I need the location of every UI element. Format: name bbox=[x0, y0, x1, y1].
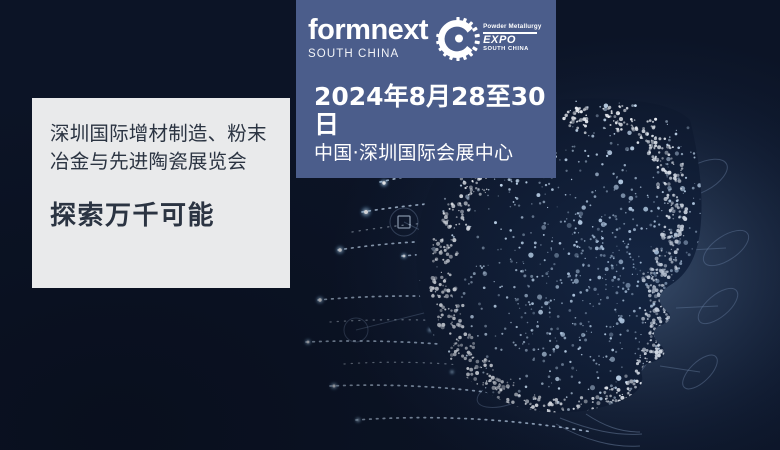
event-date: 2024年8月28至30日 bbox=[314, 83, 556, 139]
info-panel: formnext SOUTH CHINA bbox=[296, 0, 556, 178]
event-tagline: 探索万千可能 bbox=[50, 195, 274, 232]
powder-metallurgy-text: Powder Metallurgy EXPO SOUTH CHINA bbox=[483, 17, 541, 53]
pm-line-expo: EXPO bbox=[483, 35, 541, 46]
gear-c-icon bbox=[436, 17, 480, 61]
event-venue: 中国·深圳国际会展中心 bbox=[314, 142, 556, 166]
pm-line-powder-metallurgy: Powder Metallurgy bbox=[483, 24, 541, 30]
event-date-block: 2024年8月28至30日 中国·深圳国际会展中心 bbox=[308, 83, 556, 166]
event-title: 深圳国际增材制造、粉末冶金与先进陶瓷展览会 bbox=[50, 120, 274, 175]
powder-metallurgy-logo: Powder Metallurgy EXPO SOUTH CHINA bbox=[436, 17, 541, 61]
formnext-subtitle: SOUTH CHINA bbox=[308, 49, 428, 61]
formnext-wordmark: formnext bbox=[308, 16, 428, 45]
event-banner: formnext SOUTH CHINA bbox=[0, 0, 780, 450]
logo-row: formnext SOUTH CHINA bbox=[308, 16, 556, 61]
title-card: 深圳国际增材制造、粉末冶金与先进陶瓷展览会 探索万千可能 bbox=[32, 98, 290, 288]
pm-line-south-china: SOUTH CHINA bbox=[483, 47, 541, 53]
formnext-logo: formnext SOUTH CHINA bbox=[308, 16, 428, 61]
